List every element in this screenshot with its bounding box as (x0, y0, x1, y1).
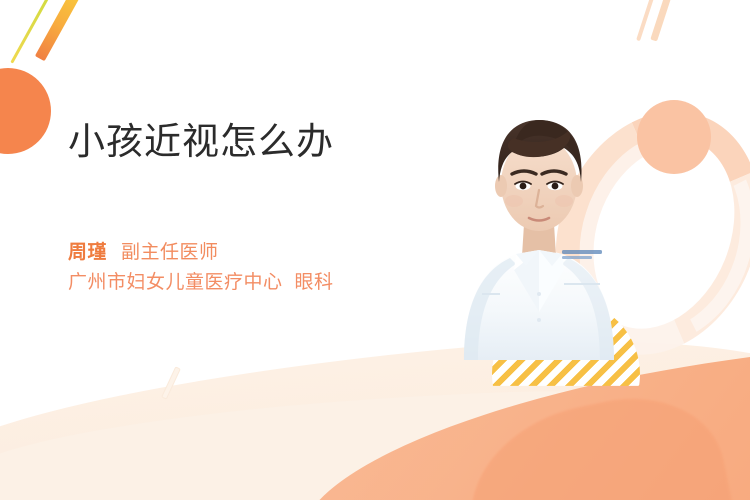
text-block: 小孩近视怎么办 周瑾副主任医师 广州市妇女儿童医疗中心眼科 (68, 118, 448, 298)
department-name: 眼科 (295, 272, 334, 293)
diagonal-stripe-orange-shape (35, 0, 86, 61)
wave-salmon-shape (285, 336, 750, 500)
diagonal-stripe-peach-a-shape (636, 0, 658, 41)
credits-block: 周瑾副主任医师 广州市妇女儿童医疗中心眼科 (68, 238, 448, 298)
wave-cream-secondary-shape (0, 376, 750, 500)
doctor-title: 副主任医师 (121, 242, 219, 263)
diagonal-stripe-green-shape (10, 0, 52, 64)
page-title: 小孩近视怎么办 (68, 118, 448, 166)
doctor-name: 周瑾 (68, 242, 107, 263)
credit-line-hospital: 广州市妇女儿童医疗中心眼科 (68, 268, 448, 298)
credit-line-doctor: 周瑾副主任医师 (68, 238, 448, 268)
circle-peach-shape (637, 100, 711, 174)
faint-stripe-shape (161, 366, 181, 399)
hospital-name: 广州市妇女儿童医疗中心 (68, 272, 283, 293)
circle-orange-shape (0, 68, 51, 154)
diagonal-stripe-peach-b-shape (650, 0, 676, 42)
wave-cream-shape (0, 312, 750, 500)
promo-card: 小孩近视怎么办 周瑾副主任医师 广州市妇女儿童医疗中心眼科 (0, 0, 750, 500)
wave-salmon-lobe-shape (452, 380, 748, 500)
doctor-portrait (444, 98, 634, 360)
